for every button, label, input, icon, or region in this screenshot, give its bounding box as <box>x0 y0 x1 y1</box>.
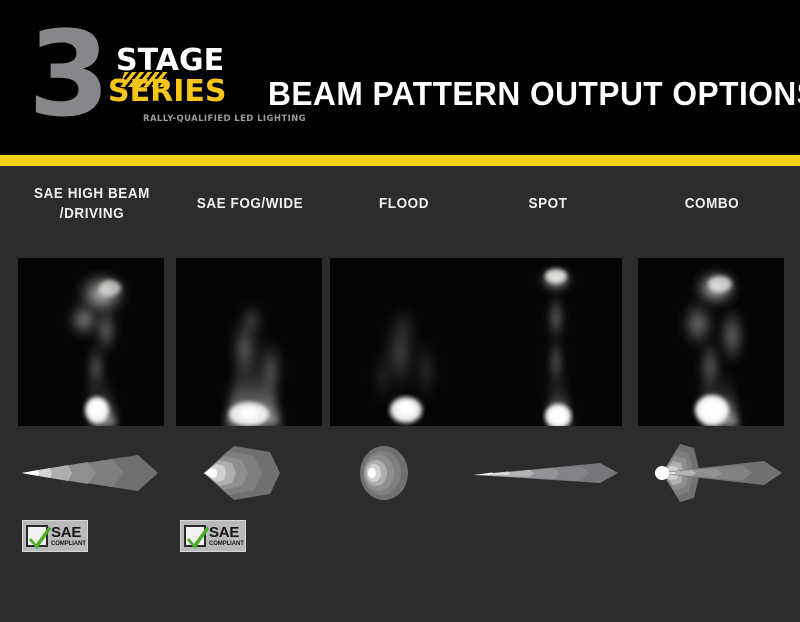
column-label-line1: COMBO <box>685 196 739 212</box>
logo-tagline: RALLY-QUALIFIED LED LIGHTING <box>143 114 306 124</box>
column-label-line2: /DRIVING <box>60 206 124 222</box>
night-road-photo <box>638 258 784 426</box>
badge-secondary-label: COMPLIANT <box>209 540 244 548</box>
yellow-divider <box>0 155 800 166</box>
beam-pattern-chart: 3 STAGE SERIES RALLY-QUALIFIED LED LIGHT… <box>0 0 800 622</box>
beam-photo-spot <box>476 258 622 426</box>
night-road-photo <box>330 258 476 426</box>
beam-photo-flood <box>330 258 476 426</box>
header-bar: 3 STAGE SERIES RALLY-QUALIFIED LED LIGHT… <box>0 0 800 155</box>
beam-shape-driving <box>12 442 170 504</box>
beam-photo-sae-fog-wide <box>176 258 322 426</box>
column-label-line1: SPOT <box>529 196 568 212</box>
pattern-grid: SAE HIGH BEAM /DRIVING <box>0 166 800 622</box>
beam-shape-spot <box>468 442 626 504</box>
pattern-column-flood: FLOOD <box>330 166 478 622</box>
beam-photo-sae-high-beam-driving <box>18 258 164 426</box>
green-check-icon <box>26 525 48 547</box>
logo-wordmark: STAGE SERIES RALLY-QUALIFIED LED LIGHTIN… <box>96 46 246 136</box>
column-header: SAE FOG/WIDE <box>174 194 327 214</box>
logo-word-stage: STAGE <box>116 46 224 76</box>
column-header: SPOT <box>472 194 625 214</box>
logo-word-series: SERIES <box>108 77 226 107</box>
pattern-column-combo: COMBO <box>638 166 786 622</box>
brand-logo: 3 STAGE SERIES RALLY-QUALIFIED LED LIGHT… <box>28 30 243 135</box>
column-header: COMBO <box>636 194 789 214</box>
page-title: BEAM PATTERN OUTPUT OPTIONS <box>268 76 800 112</box>
badge-primary-label: SAE <box>209 525 244 540</box>
column-label-line1: SAE HIGH BEAM <box>34 186 150 202</box>
badge-primary-label: SAE <box>51 525 86 540</box>
night-road-photo <box>476 258 622 426</box>
column-label-line1: FLOOD <box>379 196 429 212</box>
badge-text: SAE COMPLIANT <box>51 525 86 548</box>
column-label-line1: SAE FOG/WIDE <box>197 196 303 212</box>
beam-photo-combo <box>638 258 784 426</box>
beam-shape-flood <box>324 442 482 504</box>
badge-text: SAE COMPLIANT <box>209 525 244 548</box>
sae-compliant-badge: SAE COMPLIANT <box>180 520 246 552</box>
column-header: FLOOD <box>328 194 481 214</box>
night-road-photo <box>176 258 322 426</box>
badge-secondary-label: COMPLIANT <box>51 540 86 548</box>
pattern-column-sae-fog-wide: SAE FOG/WIDE <box>176 166 324 622</box>
beam-shape-combo <box>632 442 790 504</box>
night-road-photo <box>18 258 164 426</box>
column-header: SAE HIGH BEAM /DRIVING <box>16 184 169 224</box>
pattern-column-spot: SPOT <box>474 166 622 622</box>
pattern-column-sae-high-beam-driving: SAE HIGH BEAM /DRIVING <box>18 166 166 622</box>
beam-shape-wide <box>170 442 328 504</box>
sae-compliant-badge: SAE COMPLIANT <box>22 520 88 552</box>
green-check-icon <box>184 525 206 547</box>
